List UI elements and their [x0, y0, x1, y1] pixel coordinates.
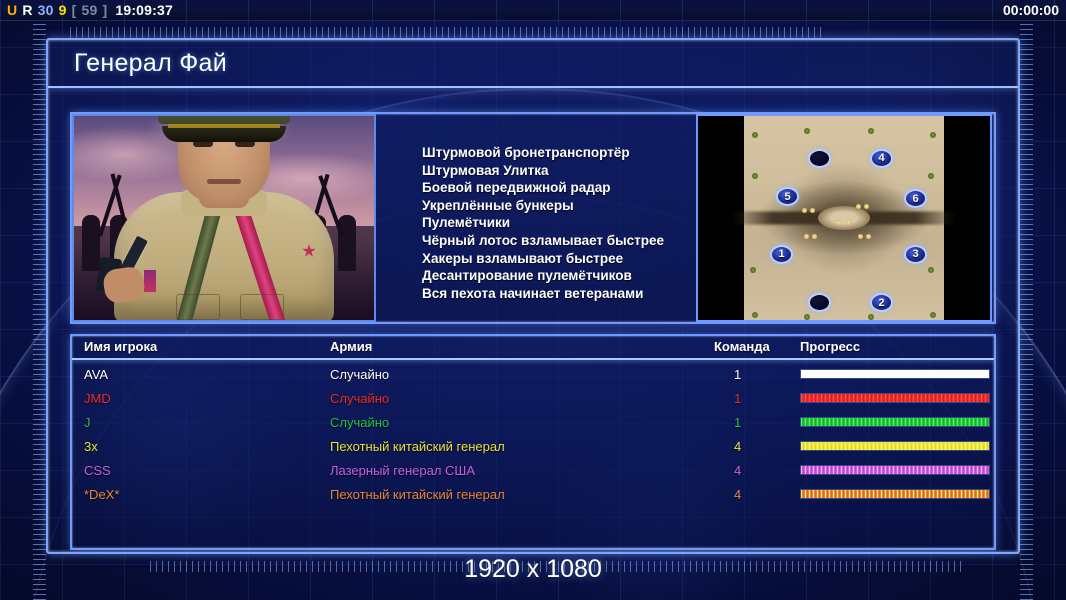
portrait-pocket	[240, 294, 284, 320]
ability-item: Хакеры взламывают быстрее	[422, 250, 696, 268]
minimap-tree	[928, 267, 934, 273]
ability-item: Укреплённые бункеры	[422, 197, 696, 215]
player-progress-bar	[800, 369, 990, 379]
player-list-panel: Имя игрока Армия Команда Прогресс AVAСлу…	[70, 334, 996, 550]
minimap-resource	[866, 234, 871, 239]
minimap-start-position: 5	[776, 187, 799, 206]
portrait-mouth	[207, 179, 241, 184]
player-name: AVA	[84, 367, 108, 382]
column-header-name: Имя игрока	[84, 339, 157, 354]
minimap-resource	[802, 208, 807, 213]
minimap-resource	[864, 204, 869, 209]
player-name: *DeX*	[84, 487, 119, 502]
progress-fill	[801, 418, 989, 426]
general-portrait	[72, 114, 376, 322]
ability-item: Боевой передвижной радар	[422, 179, 696, 197]
portrait-soldier-silhouette	[338, 215, 356, 271]
minimap-tree	[868, 128, 874, 134]
table-row[interactable]: *DeX*Пехотный китайский генерал4	[72, 482, 994, 506]
minimap-resource	[846, 220, 851, 225]
minimap-resource	[836, 220, 841, 225]
portrait-medal	[144, 270, 156, 292]
minimap-tree	[930, 312, 936, 318]
player-army: Лазерный генерал США	[330, 463, 475, 478]
minimap-start-position	[808, 149, 831, 168]
portrait-cap-visor	[162, 126, 286, 142]
minimap-resource	[858, 234, 863, 239]
player-name: JMD	[84, 391, 111, 406]
portrait-pocket	[176, 294, 220, 320]
player-progress-bar	[800, 489, 990, 499]
table-row[interactable]: JMDСлучайно1	[72, 386, 994, 410]
minimap-tree	[752, 132, 758, 138]
minimap-start-position: 4	[870, 149, 893, 168]
ability-item: Пулемётчики	[422, 214, 696, 232]
page-title: Генерал Фай	[74, 49, 227, 78]
minimap-resource	[812, 234, 817, 239]
table-row[interactable]: 3xПехотный китайский генерал4	[72, 434, 994, 458]
player-army: Случайно	[330, 391, 389, 406]
player-team: 4	[734, 439, 741, 454]
player-army: Случайно	[330, 415, 389, 430]
top-status-bar: UR 30 9[59] 19:09:37 00:00:00	[0, 0, 1066, 21]
table-row[interactable]: AVAСлучайно1	[72, 362, 994, 386]
minimap-preview[interactable]: 123456	[696, 114, 992, 322]
resolution-label: 1920 x 1080	[0, 555, 1066, 584]
minimap-tree	[804, 314, 810, 320]
minimap-tree	[868, 314, 874, 320]
table-header-row: Имя игрока Армия Команда Прогресс	[72, 336, 994, 360]
player-name: CSS	[84, 463, 111, 478]
player-army: Случайно	[330, 367, 389, 382]
player-rows: AVAСлучайно1JMDСлучайно1JСлучайно13xПехо…	[72, 360, 994, 506]
player-team: 1	[734, 415, 741, 430]
player-name: J	[84, 415, 91, 430]
player-team: 1	[734, 391, 741, 406]
table-row[interactable]: CSSЛазерный генерал США4	[72, 458, 994, 482]
minimap-start-position: 6	[904, 189, 927, 208]
player-army: Пехотный китайский генерал	[330, 439, 505, 454]
game-lobby-screen: UR 30 9[59] 19:09:37 00:00:00 Генерал Фа…	[0, 0, 1066, 600]
minimap-tree	[752, 312, 758, 318]
minimap-tree	[750, 267, 756, 273]
minimap-start-position	[808, 293, 831, 312]
player-progress-bar	[800, 417, 990, 427]
player-team: 1	[734, 367, 741, 382]
minimap-resource	[804, 234, 809, 239]
minimap-tree	[752, 173, 758, 179]
minimap-tree	[930, 132, 936, 138]
progress-fill	[801, 442, 989, 450]
column-header-army: Армия	[330, 339, 372, 354]
portrait-soldier-silhouette	[82, 215, 100, 271]
version-label: 30	[38, 2, 54, 18]
column-header-team: Команда	[714, 339, 770, 354]
general-info-panel: Штурмовой бронетранспортёр Штурмовая Ули…	[70, 112, 996, 324]
player-army: Пехотный китайский генерал	[330, 487, 505, 502]
bracket-open: [	[72, 2, 77, 18]
player-team: 4	[734, 487, 741, 502]
general-abilities-list: Штурмовой бронетранспортёр Штурмовая Ули…	[376, 114, 696, 322]
minimap-resource	[810, 208, 815, 213]
ability-item: Десантирование пулемётчиков	[422, 267, 696, 285]
portrait-cap	[158, 114, 290, 124]
mod-tag-r: R	[22, 2, 32, 18]
game-timer: 00:00:00	[1003, 2, 1059, 18]
ability-item: Вся пехота начинает ветеранами	[422, 285, 696, 303]
bracket-close: ]	[102, 2, 107, 18]
minimap-tree	[928, 173, 934, 179]
minimap-start-position: 2	[870, 293, 893, 312]
ability-item: Штурмовая Улитка	[422, 162, 696, 180]
table-row[interactable]: JСлучайно1	[72, 410, 994, 434]
minimap-start-position: 3	[904, 245, 927, 264]
player-team: 4	[734, 463, 741, 478]
status-left-group: UR 30 9[59] 19:09:37	[7, 2, 173, 18]
player-count: 9	[59, 2, 67, 18]
ability-item: Чёрный лотос взламывает быстрее	[422, 232, 696, 250]
player-progress-bar	[800, 441, 990, 451]
minimap-tree	[804, 128, 810, 134]
player-progress-bar	[800, 465, 990, 475]
max-players: 59	[81, 2, 97, 18]
progress-fill	[801, 490, 989, 498]
ability-item: Штурмовой бронетранспортёр	[422, 144, 696, 162]
mod-tag-u: U	[7, 2, 17, 18]
minimap-resource	[856, 204, 861, 209]
minimap-center-island	[818, 206, 870, 230]
column-header-progress: Прогресс	[800, 339, 860, 354]
title-bar: Генерал Фай	[48, 40, 1018, 88]
minimap-terrain: 123456	[744, 116, 944, 320]
clock-label: 19:09:37	[115, 2, 173, 18]
progress-fill	[801, 394, 989, 402]
progress-fill	[801, 466, 989, 474]
progress-fill	[801, 370, 989, 378]
player-progress-bar	[800, 393, 990, 403]
player-name: 3x	[84, 439, 98, 454]
minimap-start-position: 1	[770, 245, 793, 264]
